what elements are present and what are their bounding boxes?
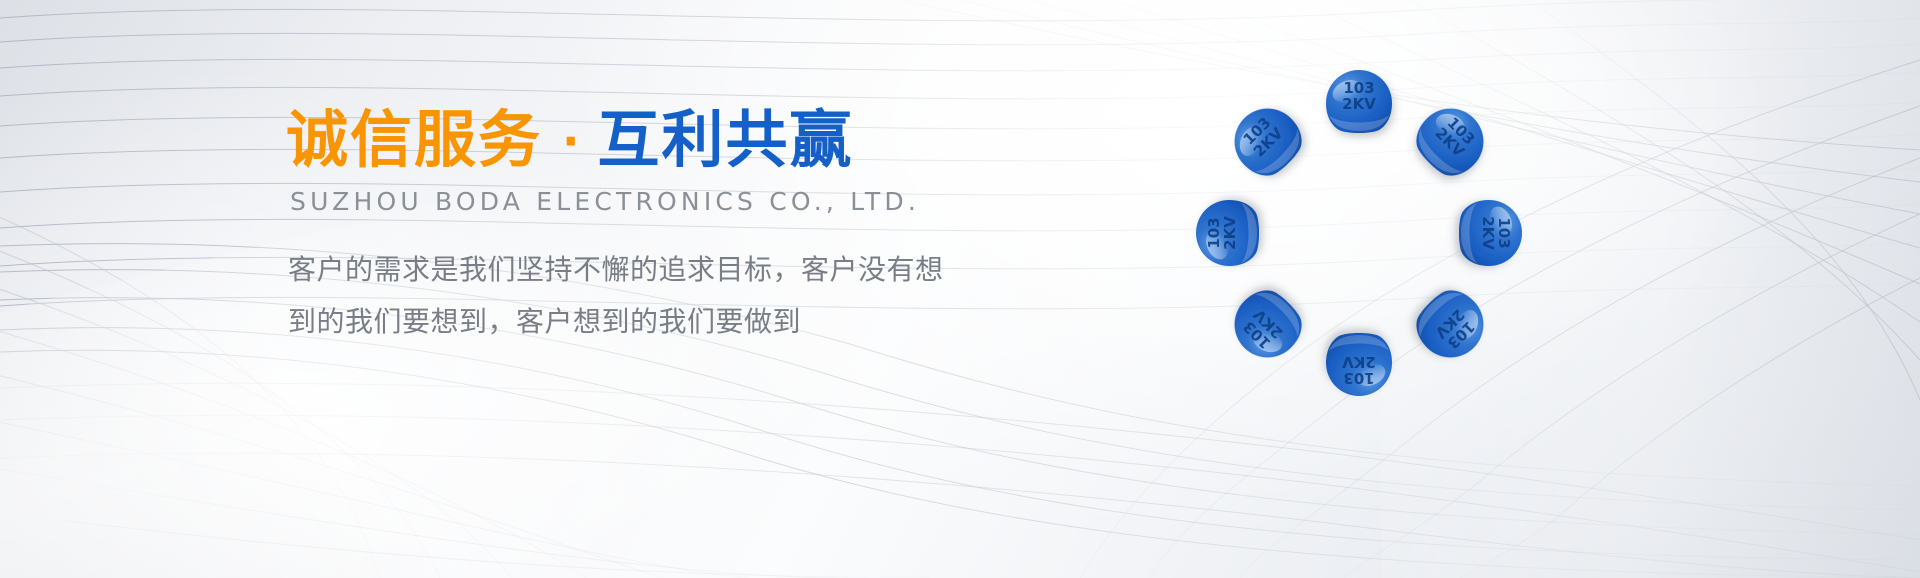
svg-text:2KV: 2KV bbox=[1342, 353, 1376, 371]
capacitor-item: 103 2KV bbox=[1326, 291, 1392, 396]
banner-body-text: 客户的需求是我们坚持不懈的追求目标，客户没有想 到的我们要想到，客户想到的我们要… bbox=[288, 244, 966, 348]
capacitor-item: 103 2KV bbox=[1376, 250, 1497, 371]
headline-separator-dot: · bbox=[562, 118, 581, 165]
capacitor-item: 103 2KV bbox=[1376, 95, 1497, 216]
headline-part-orange: 诚信服务 bbox=[286, 108, 542, 171]
body-text-line-1: 客户的需求是我们坚持不懈的追求目标，客户没有想 bbox=[288, 244, 966, 296]
headline-part-blue: 互利共赢 bbox=[598, 108, 854, 171]
banner-headline: 诚信服务 · 互利共赢 bbox=[286, 108, 966, 171]
svg-text:2KV: 2KV bbox=[1479, 216, 1497, 250]
banner-subtitle-english: SUZHOU BODA ELECTRONICS CO., LTD. bbox=[290, 187, 966, 216]
capacitor-ring-image: 103 2KV 103 2KV 103 2KV 103 2KV bbox=[1168, 42, 1550, 424]
banner-text-block: 诚信服务 · 互利共赢 SUZHOU BODA ELECTRONICS CO.,… bbox=[286, 108, 966, 348]
capacitor-item: 103 2KV bbox=[1221, 95, 1342, 216]
hero-banner: 诚信服务 · 互利共赢 SUZHOU BODA ELECTRONICS CO.,… bbox=[0, 0, 1920, 578]
svg-text:2KV: 2KV bbox=[1221, 216, 1239, 250]
capacitor-item: 103 2KV bbox=[1221, 250, 1342, 371]
svg-text:2KV: 2KV bbox=[1342, 95, 1376, 113]
capacitor-item: 103 2KV bbox=[1326, 70, 1392, 175]
body-text-line-2: 到的我们要想到，客户想到的我们要做到 bbox=[288, 296, 966, 348]
capacitor-item: 103 2KV bbox=[1196, 200, 1301, 266]
capacitor-item: 103 2KV bbox=[1417, 200, 1522, 266]
